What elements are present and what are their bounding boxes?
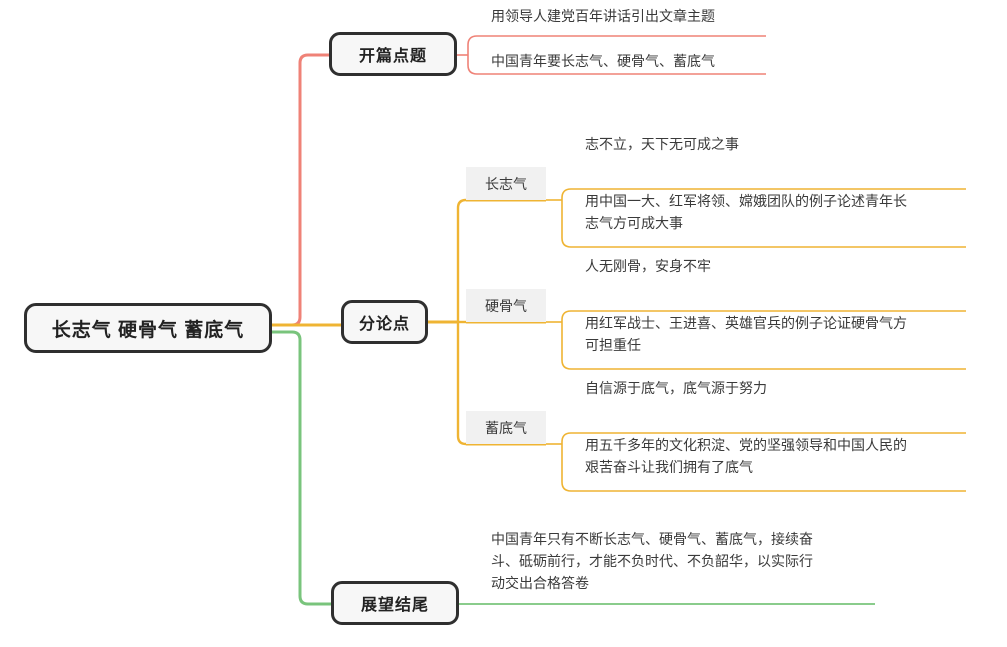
leaf-confidence-1[interactable]: 自信源于底气，底气源于努力 <box>571 377 991 399</box>
leaf-closing-1[interactable]: 中国青年只有不断长志气、硬骨气、蓄底气，接续奋 斗、砥砺前行，才能不负时代、不负… <box>477 528 889 594</box>
branch-node-opening[interactable]: 开篇点题 <box>329 32 457 76</box>
sub-node-ambition-label: 长志气 <box>485 174 527 194</box>
sub-node-backbone-label: 硬骨气 <box>485 296 527 316</box>
sub-node-confidence-label: 蓄底气 <box>485 418 527 438</box>
root-node[interactable]: 长志气 硬骨气 蓄底气 <box>24 303 272 353</box>
leaf-backbone-1[interactable]: 人无刚骨，安身不牢 <box>571 255 991 277</box>
branch-node-closing-label: 展望结尾 <box>361 591 429 615</box>
leaf-opening-1[interactable]: 用领导人建党百年讲话引出文章主题 <box>477 5 897 27</box>
leaf-opening-2[interactable]: 中国青年要长志气、硬骨气、蓄底气 <box>477 44 897 78</box>
leaf-ambition-2[interactable]: 用中国一大、红军将领、嫦娥团队的例子论述青年长 志气方可成大事 <box>571 184 983 240</box>
branch-node-arguments-label: 分论点 <box>359 310 410 334</box>
leaf-backbone-2[interactable]: 用红军战士、王进喜、英雄官兵的例子论证硬骨气方 可担重任 <box>571 306 983 362</box>
mindmap-canvas: 长志气 硬骨气 蓄底气 开篇点题 分论点 展望结尾 长志气 硬骨气 蓄底气 用领… <box>0 0 1007 647</box>
leaf-ambition-1[interactable]: 志不立，天下无可成之事 <box>571 133 991 155</box>
branch-node-closing[interactable]: 展望结尾 <box>331 581 459 625</box>
leaf-confidence-2[interactable]: 用五千多年的文化积淀、党的坚强领导和中国人民的 艰苦奋斗让我们拥有了底气 <box>571 428 983 484</box>
root-node-label: 长志气 硬骨气 蓄底气 <box>52 315 245 342</box>
sub-node-ambition[interactable]: 长志气 <box>466 167 546 200</box>
branch-node-opening-label: 开篇点题 <box>359 42 427 66</box>
sub-node-confidence[interactable]: 蓄底气 <box>466 411 546 444</box>
sub-node-backbone[interactable]: 硬骨气 <box>466 289 546 322</box>
branch-node-arguments[interactable]: 分论点 <box>341 300 428 344</box>
